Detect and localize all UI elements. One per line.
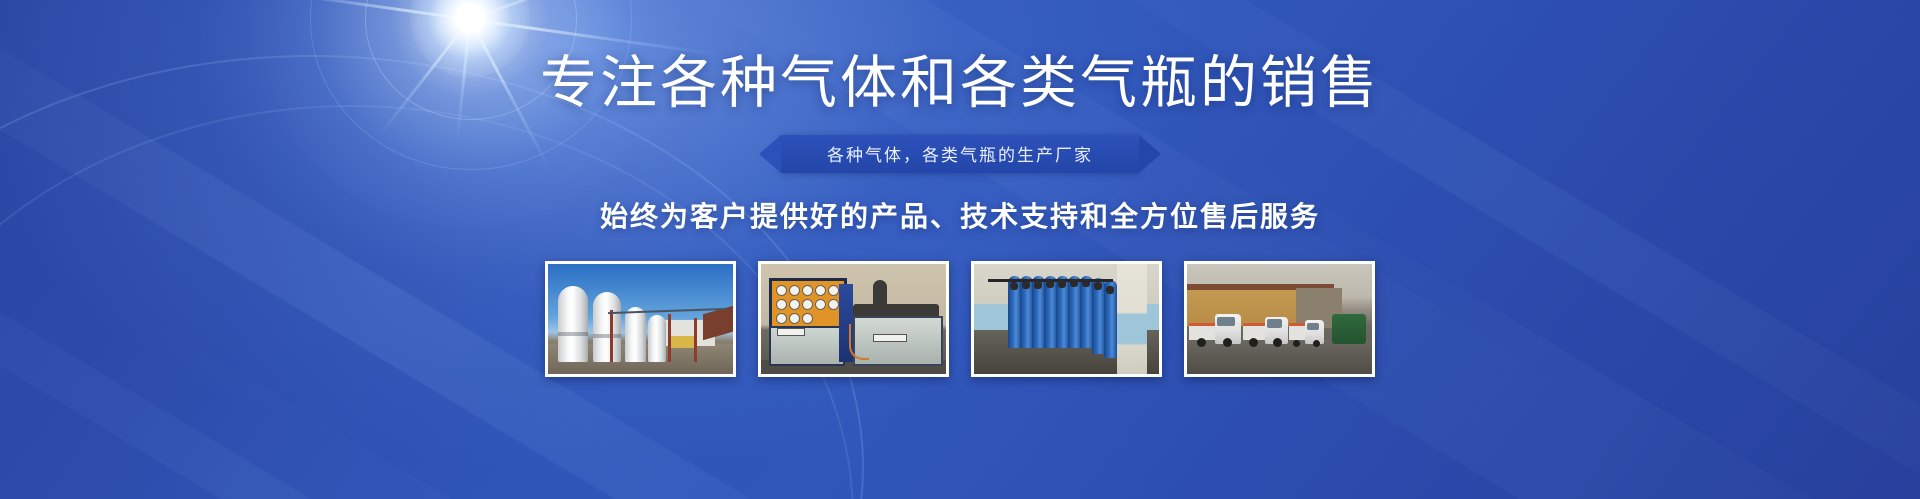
banner-ribbon: 各种气体，各类气瓶的生产厂家: [781, 135, 1139, 173]
photo-cryogenic-storage-tanks: [548, 264, 733, 374]
gallery-item-cryogenic-storage-tanks[interactable]: [545, 261, 736, 377]
gallery-item-gas-testing-control-panel[interactable]: [758, 261, 949, 377]
gallery-item-blue-gas-cylinders[interactable]: [971, 261, 1162, 377]
banner-headline: 专注各种气体和各类气瓶的销售: [540, 52, 1380, 115]
banner-content: 专注各种气体和各类气瓶的销售 各种气体，各类气瓶的生产厂家 始终为客户提供好的产…: [0, 0, 1920, 499]
photo-gas-testing-control-panel: [761, 264, 946, 374]
hero-banner: 专注各种气体和各类气瓶的销售 各种气体，各类气瓶的生产厂家 始终为客户提供好的产…: [0, 0, 1920, 499]
photo-blue-gas-cylinders: [974, 264, 1159, 374]
banner-gallery: [545, 261, 1375, 377]
photo-delivery-truck-fleet: [1187, 264, 1372, 374]
gallery-item-delivery-truck-fleet[interactable]: [1184, 261, 1375, 377]
banner-tagline: 始终为客户提供好的产品、技术支持和全方位售后服务: [600, 195, 1320, 235]
banner-ribbon-text: 各种气体，各类气瓶的生产厂家: [827, 141, 1093, 166]
